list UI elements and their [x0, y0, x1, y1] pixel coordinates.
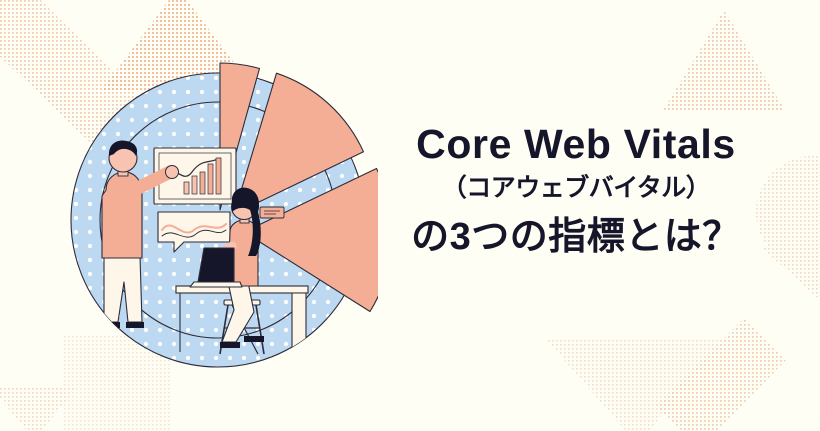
dotted-triangle-top-right	[662, 10, 786, 112]
dotted-triangle-bottom-left	[0, 386, 78, 431]
illustration-svg	[58, 60, 378, 380]
page-title-question: の3つの指標とは？	[352, 216, 800, 260]
dotted-diagonal-band-bottom-right	[656, 318, 786, 431]
banner-canvas: Core Web Vitals （コアウェブバイタル） の3つの指標とは？	[0, 0, 820, 431]
page-title: Core Web Vitals	[352, 122, 800, 168]
donut-chart-illustration	[58, 60, 378, 380]
sticky-note	[260, 207, 284, 218]
headline-block: Core Web Vitals （コアウェブバイタル） の3つの指標とは？	[352, 122, 800, 260]
page-subtitle-kana: （コアウェブバイタル）	[352, 175, 800, 203]
dotted-triangle-bottom-center	[546, 339, 728, 431]
